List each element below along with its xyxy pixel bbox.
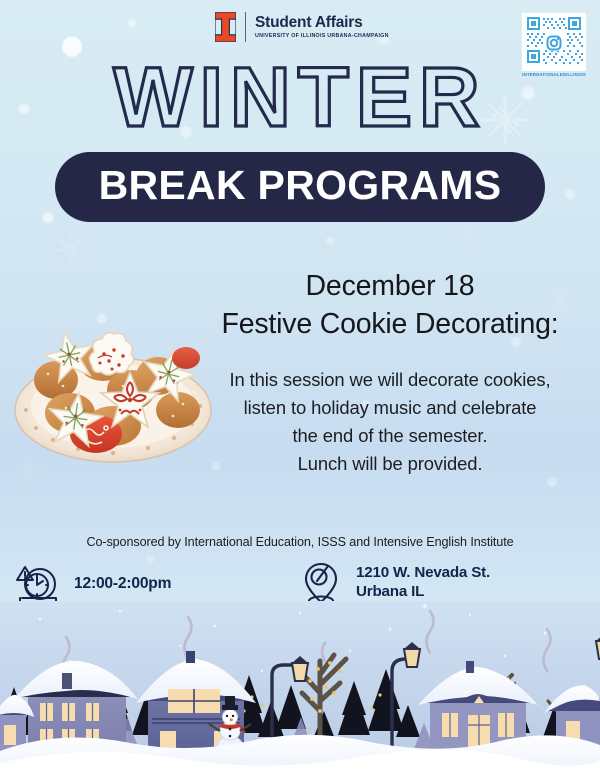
university-logo-lockup: Student Affairs UNIVERSITY OF ILLINOIS U… bbox=[215, 12, 389, 42]
logo-subtitle: UNIVERSITY OF ILLINOIS URBANA-CHAMPAIGN bbox=[255, 34, 389, 39]
winter-village-illustration bbox=[0, 601, 600, 777]
poster-header: Student Affairs UNIVERSITY OF ILLINOIS U… bbox=[0, 8, 600, 54]
description-line-2: listen to holiday music and celebrate bbox=[190, 394, 590, 422]
address-line-1: 1210 W. Nevada St. bbox=[356, 564, 490, 583]
address-line-2: Urbana IL bbox=[356, 583, 490, 602]
break-programs-pill: BREAK PROGRAMS bbox=[55, 152, 546, 222]
event-time-value: 12:00-2:00pm bbox=[74, 574, 171, 593]
illinois-block-i-icon bbox=[215, 12, 236, 42]
description-line-1: In this session we will decorate cookies… bbox=[190, 366, 590, 394]
description-line-3: the end of the semester. bbox=[190, 422, 590, 450]
logo-divider bbox=[245, 12, 246, 42]
cosponsor-line: Co-sponsored by International Education,… bbox=[0, 535, 600, 549]
description-line-4: Lunch will be provided. bbox=[190, 450, 590, 478]
winter-break-programs-poster: Student Affairs UNIVERSITY OF ILLINOIS U… bbox=[0, 0, 600, 777]
logo-title: Student Affairs bbox=[255, 15, 389, 31]
event-heading: December 18 Festive Cookie Decorating: bbox=[190, 268, 590, 343]
event-name: Festive Cookie Decorating: bbox=[190, 306, 590, 344]
break-programs-pill-wrap: BREAK PROGRAMS bbox=[0, 152, 600, 222]
event-date: December 18 bbox=[190, 268, 590, 306]
instagram-icon bbox=[546, 35, 562, 51]
cookie-plate-illustration bbox=[8, 318, 218, 470]
event-description: In this session we will decorate cookies… bbox=[190, 366, 590, 478]
logo-text-block: Student Affairs UNIVERSITY OF ILLINOIS U… bbox=[255, 15, 389, 39]
event-location-value: 1210 W. Nevada St. Urbana IL bbox=[356, 564, 490, 601]
page-title-winter: WINTER bbox=[0, 58, 600, 138]
